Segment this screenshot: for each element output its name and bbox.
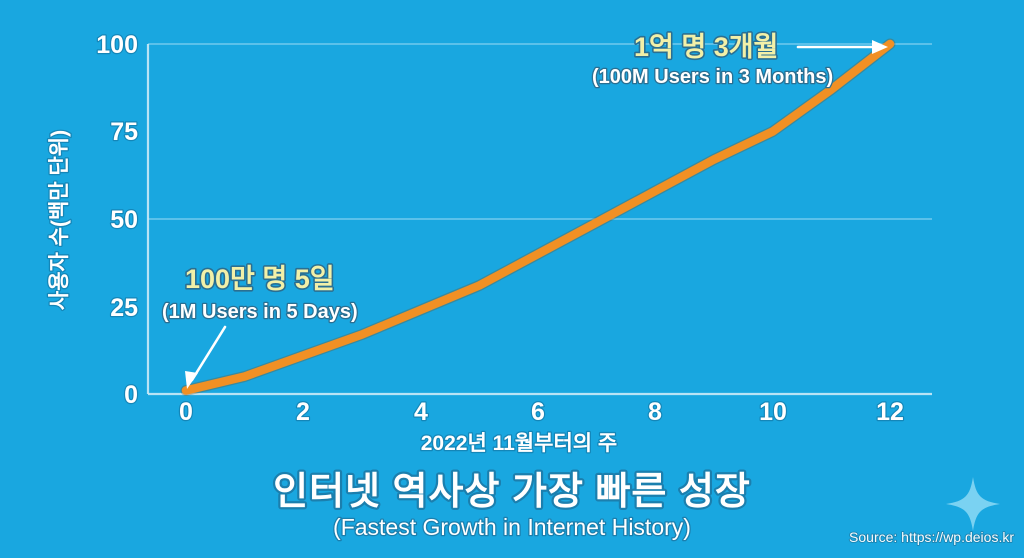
- series-growth-curve: [186, 44, 890, 391]
- sparkle-icon: [946, 477, 1000, 531]
- x-tick-label-4: 4: [414, 398, 428, 426]
- series-line: [186, 44, 890, 391]
- annotation-second-milestone-arrow-icon: [798, 40, 888, 54]
- y-axis-title: 사용자 수(백만 단위): [48, 130, 71, 310]
- x-tick-labels: 0 2 4 6 8 10 12: [179, 398, 904, 426]
- series-shadow: [186, 44, 890, 391]
- annotation-second-milestone-korean: 1억 명 3개월: [634, 32, 778, 62]
- x-tick-label-6: 6: [531, 398, 545, 426]
- y-tick-label-25: 25: [110, 294, 138, 322]
- x-axis-title: 2022년 11월부터의 주: [421, 432, 618, 455]
- x-tick-label-2: 2: [296, 398, 310, 426]
- y-tick-label-0: 0: [124, 381, 138, 409]
- y-tick-labels: 100 75 50 25 0: [96, 31, 138, 409]
- x-tick-label-0: 0: [179, 398, 193, 426]
- x-tick-label-12: 12: [876, 398, 904, 426]
- annotation-second-milestone-english: (100M Users in 3 Months): [592, 66, 833, 88]
- chart-svg: 100 75 50 25 0 0 2 4 6 8 10 12 사용자 수(백만 …: [0, 0, 1024, 558]
- page-title-korean: 인터넷 역사상 가장 빠른 성장: [273, 471, 751, 513]
- x-tick-label-8: 8: [648, 398, 662, 426]
- chart-canvas: 100 75 50 25 0 0 2 4 6 8 10 12 사용자 수(백만 …: [0, 0, 1024, 558]
- source-label: Source: https://wp.deios.kr: [849, 529, 1014, 545]
- y-tick-label-75: 75: [110, 118, 138, 146]
- x-tick-label-10: 10: [759, 398, 787, 426]
- annotation-first-milestone-korean: 100만 명 5일: [185, 264, 335, 294]
- annotation-first-milestone-english: (1M Users in 5 Days): [162, 301, 358, 323]
- page-title-english: (Fastest Growth in Internet History): [333, 514, 691, 540]
- y-tick-label-100: 100: [96, 31, 138, 59]
- y-tick-label-50: 50: [110, 206, 138, 234]
